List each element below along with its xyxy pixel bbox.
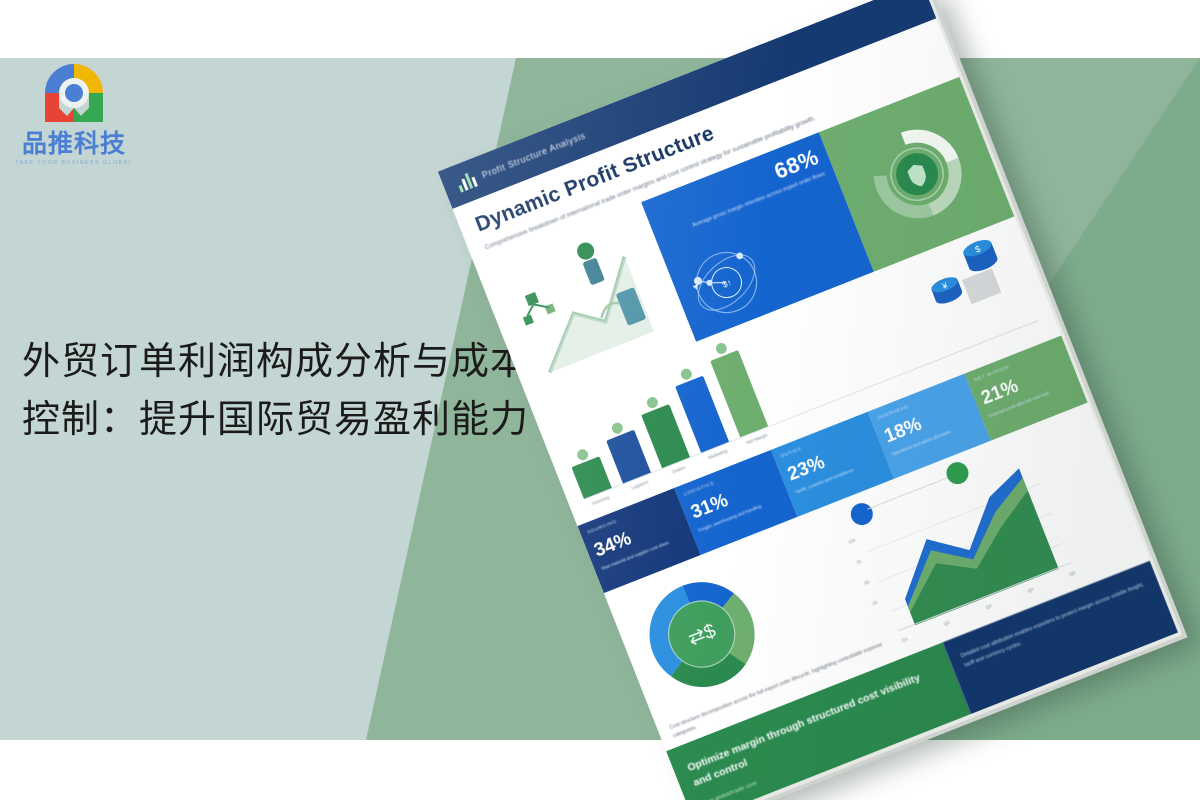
bar-dot-icon — [575, 447, 589, 461]
area-y-tick: 75 — [855, 559, 861, 565]
bar-dot-icon — [714, 341, 728, 355]
area-x-tick: Q1 — [901, 636, 908, 643]
brand-name: 品推科技 — [14, 132, 134, 157]
svg-text:$↑: $↑ — [720, 277, 733, 290]
area-x-tick: Q5 — [1069, 570, 1076, 577]
area-x-tick: Q3 — [985, 603, 992, 610]
bar-chart-bar — [641, 404, 690, 468]
shield-gauge-icon — [849, 107, 984, 242]
area-x-tick: Q4 — [1027, 587, 1034, 594]
area-y-tick: 100 — [847, 537, 856, 544]
bar-chart-bar — [606, 430, 651, 483]
bar-chart-icon — [455, 171, 478, 192]
brand-logo: 品推科技 TAKE YOUR BUSINESS GLOBAL — [14, 56, 134, 161]
bar-dot-icon — [610, 421, 624, 435]
bar-dot-icon — [679, 367, 693, 381]
area-x-tick: Q2 — [943, 620, 950, 627]
bar-chart-bar — [571, 456, 611, 499]
area-y-tick: 50 — [863, 579, 869, 585]
slide-canvas: 品推科技 TAKE YOUR BUSINESS GLOBAL 外贸订单利润构成分… — [0, 0, 1200, 800]
pinwheel-logo-icon — [37, 56, 111, 130]
bar-dot-icon — [645, 395, 659, 409]
brand-tagline: TAKE YOUR BUSINESS GLOBAL — [14, 160, 134, 166]
area-y-tick: 25 — [872, 600, 878, 606]
